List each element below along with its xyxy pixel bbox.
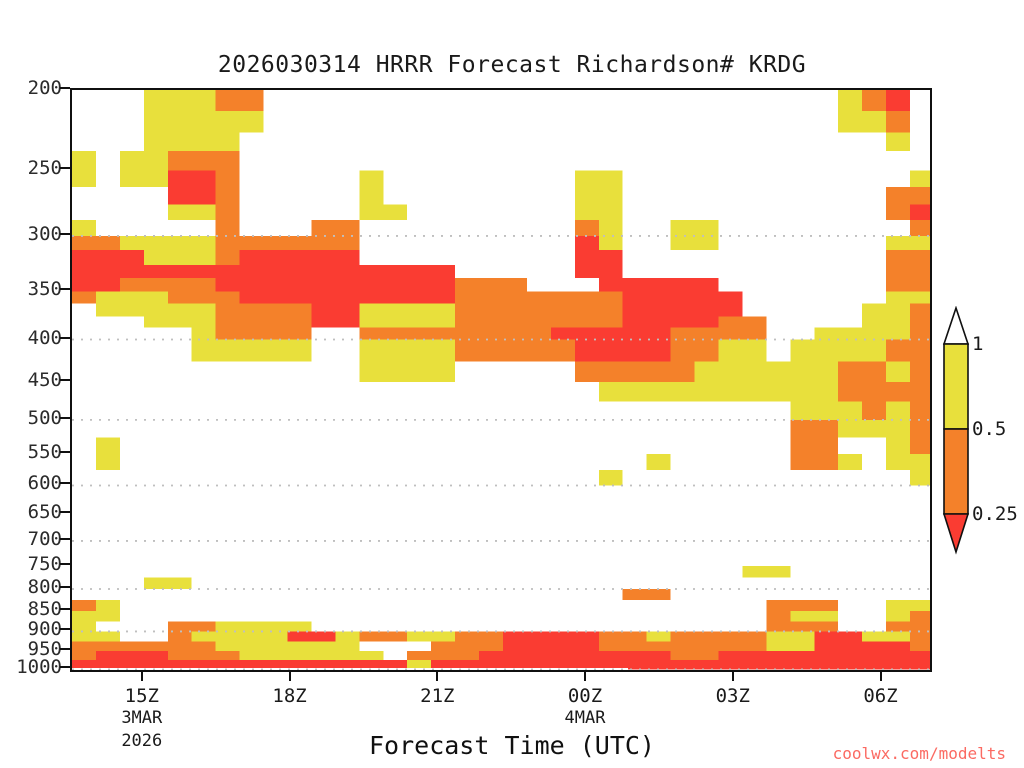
- x-axis-tick-label: 21Z: [377, 685, 497, 707]
- colorbar-band-below: [944, 514, 968, 552]
- y-axis-tick-label: 450: [0, 369, 62, 391]
- y-axis-tick-mark: [60, 482, 70, 484]
- colorbar-band-above: [944, 308, 968, 344]
- y-axis-tick-label: 1000: [0, 656, 62, 678]
- y-axis-tick-label: 550: [0, 441, 62, 463]
- colorbar-tick-label: 0.25: [972, 503, 1018, 525]
- x-axis-tick-label: 00Z: [525, 685, 645, 707]
- x-axis-tick-mark: [289, 672, 291, 681]
- y-axis-tick-mark: [60, 538, 70, 540]
- y-axis-tick-mark: [60, 628, 70, 630]
- x-axis-date-label: 3MAR: [82, 708, 202, 728]
- y-axis-tick-mark: [60, 288, 70, 290]
- chart-root: 2026030314 HRRR Forecast Richardson# KRD…: [0, 0, 1024, 768]
- surface-line: [628, 670, 932, 672]
- colorbar-band: [944, 344, 968, 429]
- x-axis-tick-label: 06Z: [821, 685, 941, 707]
- y-axis-tick-label: 350: [0, 278, 62, 300]
- y-axis-tick-mark: [60, 586, 70, 588]
- y-axis-tick-mark: [60, 563, 70, 565]
- y-axis-tick-mark: [60, 337, 70, 339]
- ground-fill: [72, 670, 628, 672]
- y-axis-tick-label: 750: [0, 553, 62, 575]
- y-axis-tick-label: 200: [0, 77, 62, 99]
- y-axis-tick-label: 800: [0, 576, 62, 598]
- y-axis-tick-label: 400: [0, 327, 62, 349]
- chart-title: 2026030314 HRRR Forecast Richardson# KRD…: [0, 52, 1024, 78]
- x-axis-tick-label: 03Z: [673, 685, 793, 707]
- x-axis-date-label: 4MAR: [525, 708, 645, 728]
- y-axis-tick-mark: [60, 648, 70, 650]
- x-axis-tick-label: 18Z: [230, 685, 350, 707]
- y-axis-tick-label: 300: [0, 223, 62, 245]
- y-axis-tick-mark: [60, 451, 70, 453]
- y-axis-tick-label: 500: [0, 407, 62, 429]
- x-axis-tick-mark: [880, 672, 882, 681]
- y-axis-tick-mark: [60, 87, 70, 89]
- x-axis-tick-mark: [584, 672, 586, 681]
- colorbar-tick-label: 0.5: [972, 418, 1006, 440]
- y-axis-tick-label: 600: [0, 472, 62, 494]
- y-axis-tick-mark: [60, 167, 70, 169]
- watermark: coolwx.com/modelts: [833, 744, 1006, 763]
- y-axis-tick-mark: [60, 233, 70, 235]
- y-axis-tick-label: 250: [0, 157, 62, 179]
- plot-area: [70, 88, 932, 672]
- y-axis-tick-label: 850: [0, 598, 62, 620]
- y-axis-tick-mark: [60, 511, 70, 513]
- x-axis-tick-mark: [732, 672, 734, 681]
- y-axis-tick-mark: [60, 666, 70, 668]
- colorbar-tick-label: 1: [972, 333, 983, 355]
- y-axis-tick-mark: [60, 608, 70, 610]
- colorbar-band: [944, 429, 968, 514]
- colorbar-legend: 10.50.25: [941, 306, 971, 476]
- y-axis-tick-mark: [60, 417, 70, 419]
- x-axis-tick-mark: [141, 672, 143, 681]
- y-axis-tick-label: 700: [0, 528, 62, 550]
- gridlines: [72, 90, 930, 670]
- x-axis-tick-label: 15Z: [82, 685, 202, 707]
- y-axis-tick-mark: [60, 379, 70, 381]
- y-axis-tick-label: 650: [0, 501, 62, 523]
- x-axis-tick-mark: [436, 672, 438, 681]
